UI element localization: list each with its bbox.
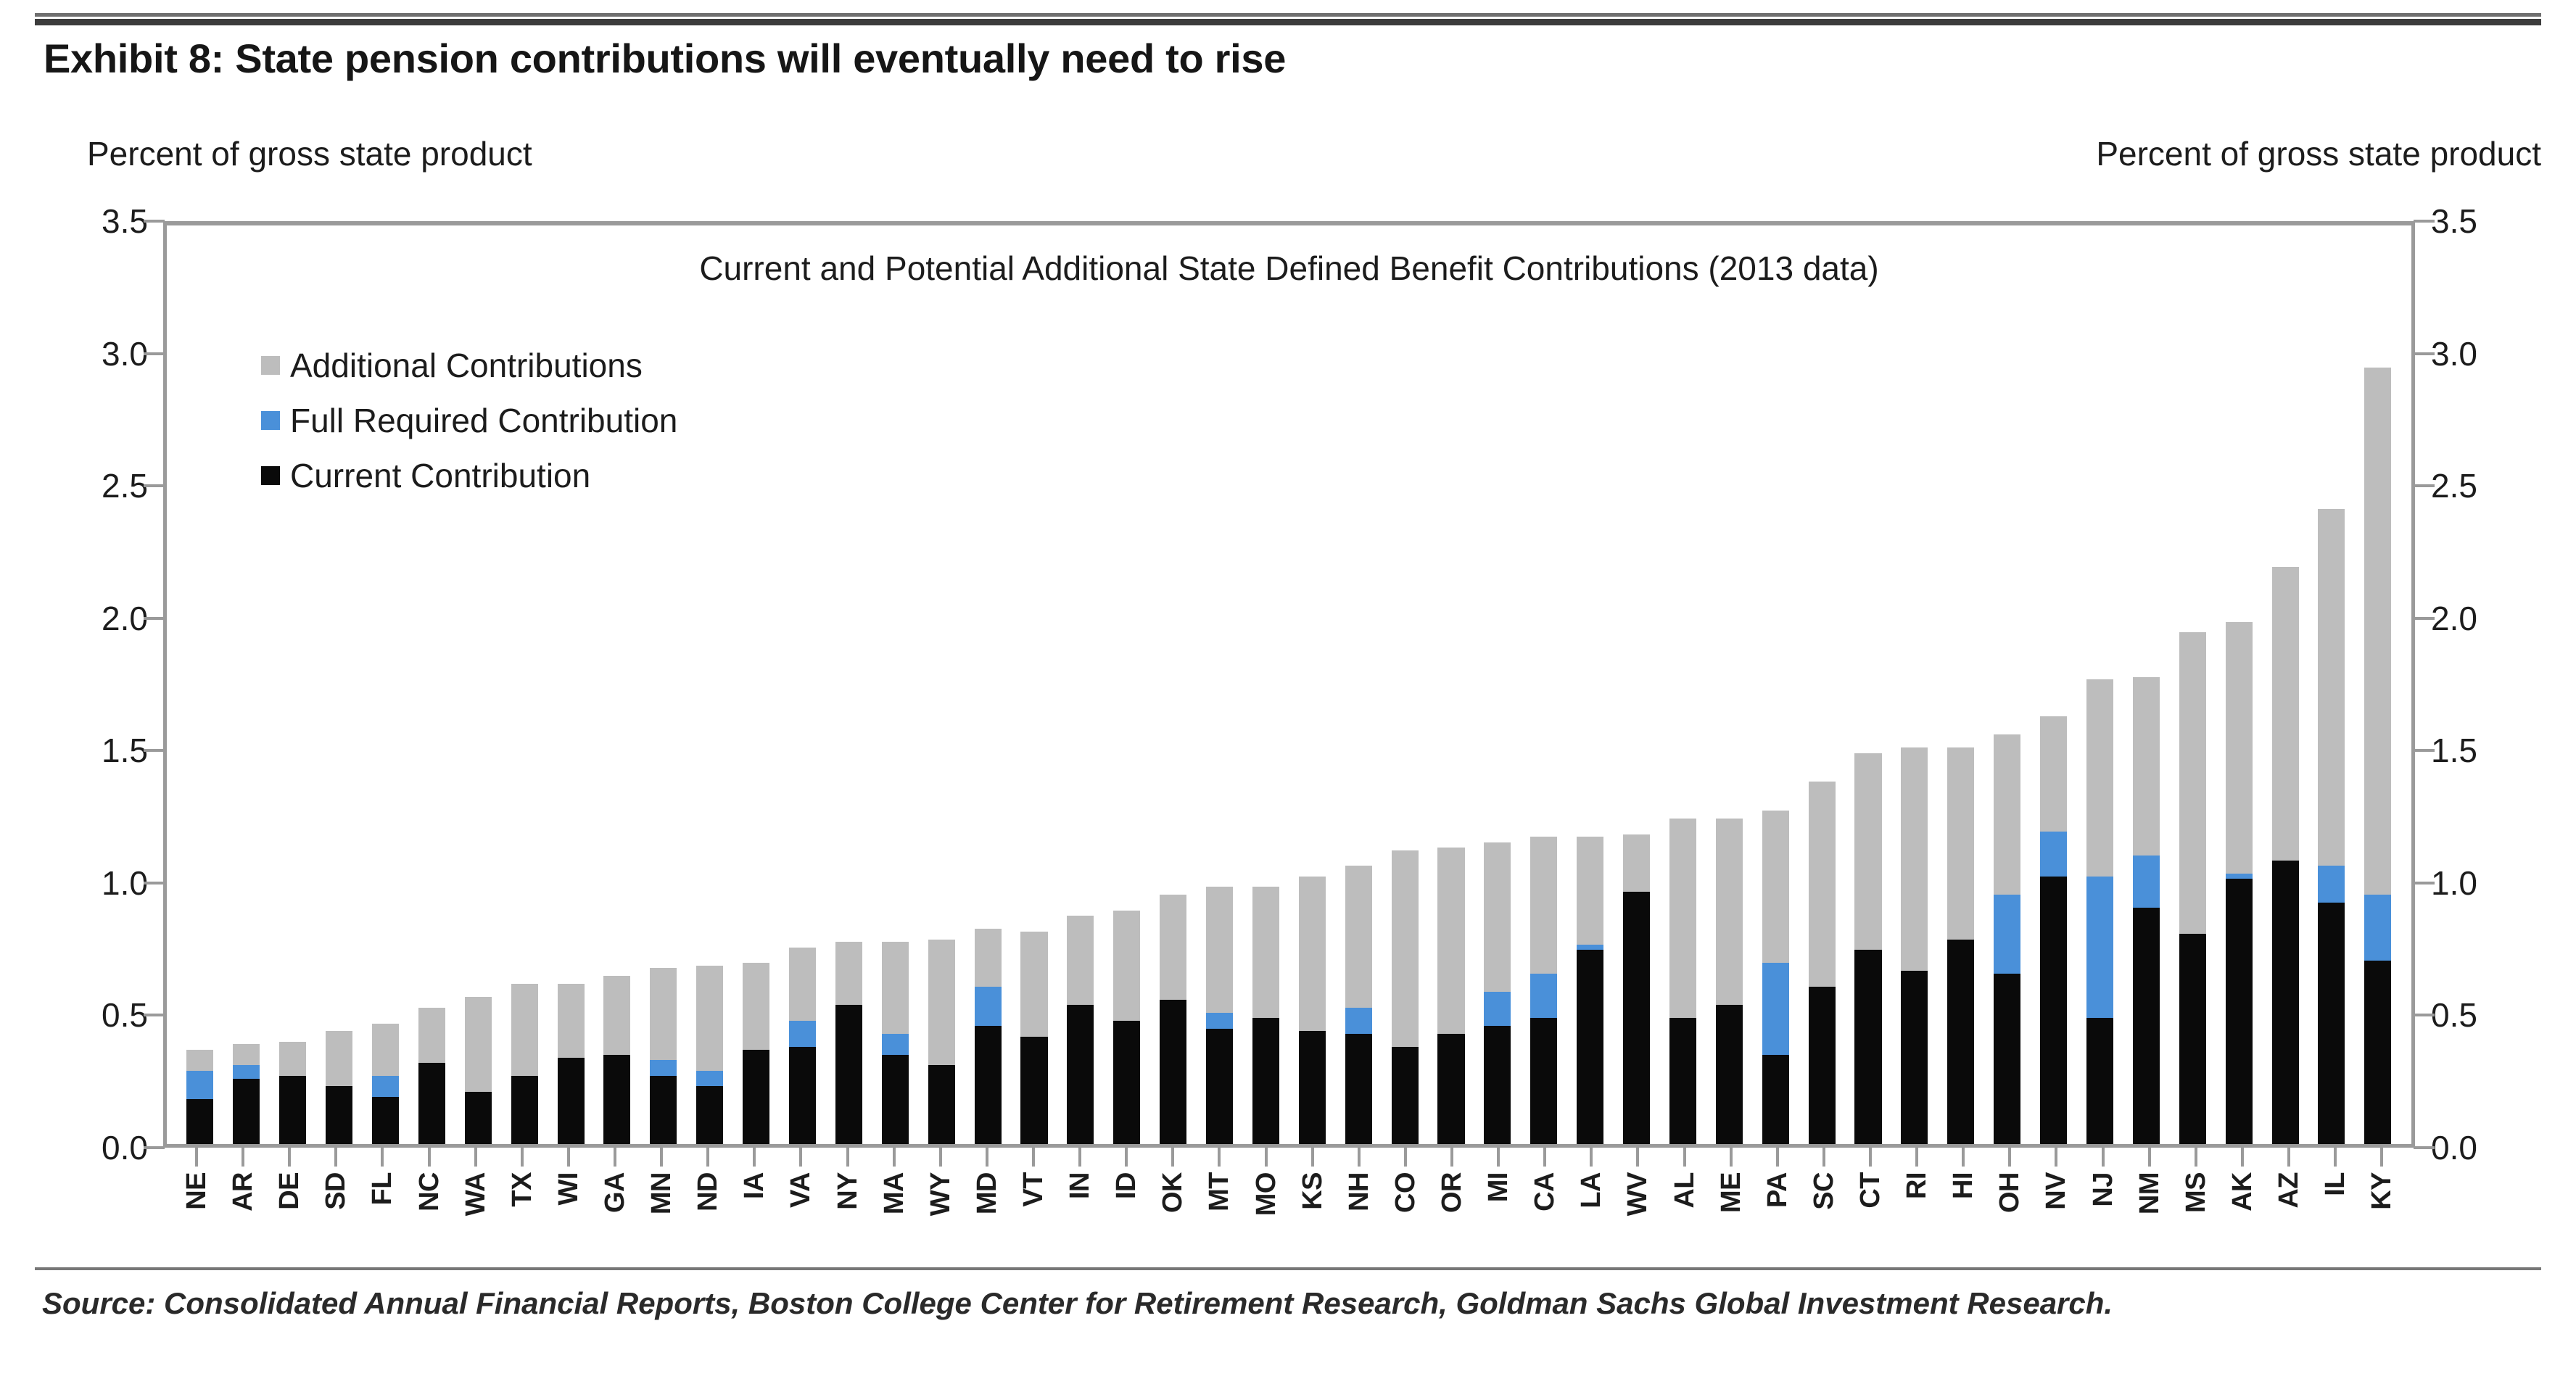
bar-segment-current: [1206, 1029, 1233, 1144]
x-tick-slot: [917, 1148, 964, 1169]
bar-segment-current: [603, 1055, 630, 1144]
y-tick-label-left: 2.5: [32, 466, 148, 505]
bar-segment-additional: [372, 1024, 399, 1076]
x-tick-slot: [2358, 1148, 2405, 1169]
x-tick-mark: [2287, 1148, 2290, 1167]
x-tick-slot: [1010, 1148, 1057, 1169]
bar-stack: [2040, 225, 2067, 1144]
bar-group-MN[interactable]: [640, 225, 687, 1144]
bar-group-KY[interactable]: [2355, 225, 2401, 1144]
x-label-slot: GA: [592, 1171, 638, 1251]
x-tick-mark: [614, 1148, 616, 1167]
bar-group-VA[interactable]: [780, 225, 826, 1144]
x-tick-slot: [1754, 1148, 1801, 1169]
x-tick-slot: [2266, 1148, 2312, 1169]
bar-stack: [789, 225, 816, 1144]
x-label-ME: ME: [1717, 1172, 1746, 1213]
bar-group-WI[interactable]: [548, 225, 594, 1144]
bar-segment-current: [1530, 1018, 1557, 1144]
x-tick-slot: [266, 1148, 313, 1169]
y-tick-label-right: 1.5: [2431, 731, 2547, 770]
x-tick-slot: [2312, 1148, 2358, 1169]
x-label-KS: KS: [1298, 1172, 1327, 1210]
x-tick-mark: [1497, 1148, 1500, 1167]
x-tick-slot: [2173, 1148, 2219, 1169]
bar-group-CT[interactable]: [1845, 225, 1891, 1144]
bar-segment-additional: [418, 1008, 445, 1063]
bar-group-NM[interactable]: [2123, 225, 2169, 1144]
bar-group-IA[interactable]: [733, 225, 780, 1144]
y-tick-label-right: 2.5: [2431, 466, 2547, 505]
bar-segment-additional: [2133, 677, 2160, 855]
x-label-slot: LA: [1568, 1171, 1614, 1251]
x-tick-mark: [706, 1148, 709, 1167]
bar-segment-required: [2318, 866, 2345, 903]
y-tick-mark-left: [144, 749, 165, 752]
x-tick-slot: [1103, 1148, 1149, 1169]
x-label-slot: AZ: [2266, 1171, 2312, 1251]
x-label-slot: CO: [1382, 1171, 1429, 1251]
x-tick-mark: [2334, 1148, 2337, 1167]
bar-group-IN[interactable]: [1057, 225, 1104, 1144]
bar-segment-additional: [279, 1042, 306, 1076]
x-tick-slot: [1336, 1148, 1382, 1169]
bar-segment-required: [1762, 963, 1789, 1055]
bar-group-TX[interactable]: [501, 225, 548, 1144]
x-label-slot: KY: [2358, 1171, 2405, 1251]
x-tick-mark: [1311, 1148, 1314, 1167]
bar-segment-required: [1577, 945, 1603, 950]
x-label-GA: GA: [600, 1172, 629, 1213]
bar-segment-additional: [835, 942, 862, 1005]
bar-group-OH[interactable]: [1984, 225, 2031, 1144]
bar-segment-required: [2226, 874, 2253, 879]
bar-group-VT[interactable]: [1011, 225, 1057, 1144]
bar-group-NE[interactable]: [177, 225, 223, 1144]
bar-segment-current: [1113, 1021, 1140, 1144]
bar-group-WA[interactable]: [455, 225, 501, 1144]
bar-group-NY[interactable]: [825, 225, 872, 1144]
bar-group-MS[interactable]: [2169, 225, 2216, 1144]
x-label-slot: NH: [1336, 1171, 1382, 1251]
bar-segment-additional: [1854, 753, 1881, 950]
x-tick-mark: [986, 1148, 988, 1167]
bar-segment-current: [1299, 1031, 1326, 1144]
bar-segment-additional: [1901, 747, 1928, 971]
x-tick-mark: [1543, 1148, 1546, 1167]
bar-segment-current: [2133, 908, 2160, 1144]
bar-group-MI[interactable]: [1474, 225, 1521, 1144]
bar-group-CA[interactable]: [1521, 225, 1567, 1144]
x-tick-mark: [1265, 1148, 1268, 1167]
x-tick-mark: [381, 1148, 384, 1167]
bar-segment-additional: [2040, 716, 2067, 832]
x-label-FL: FL: [368, 1172, 397, 1205]
bar-group-NJ[interactable]: [2077, 225, 2123, 1144]
bar-segment-additional: [1994, 734, 2020, 895]
x-label-SC: SC: [1809, 1172, 1838, 1210]
x-tick-mark: [1869, 1148, 1872, 1167]
bar-stack: [1437, 225, 1464, 1144]
x-label-WY: WY: [926, 1172, 955, 1216]
bar-segment-additional: [1947, 747, 1974, 939]
bar-segment-current: [743, 1050, 769, 1144]
bar-stack: [1252, 225, 1279, 1144]
bar-segment-required: [2133, 855, 2160, 908]
bar-stack: [326, 225, 352, 1144]
bar-segment-required: [1994, 895, 2020, 974]
bar-stack: [1762, 225, 1789, 1144]
x-label-slot: NE: [173, 1171, 220, 1251]
bar-segment-required: [233, 1065, 260, 1078]
bar-segment-additional: [1160, 895, 1186, 1000]
bar-segment-current: [1762, 1055, 1789, 1144]
bar-segment-required: [696, 1071, 723, 1087]
x-label-WI: WI: [554, 1172, 583, 1205]
x-tick-mark: [1730, 1148, 1733, 1167]
x-tick-mark: [1636, 1148, 1639, 1167]
x-tick-mark: [1358, 1148, 1361, 1167]
x-tick-slot: [499, 1148, 545, 1169]
bar-stack: [279, 225, 306, 1144]
x-label-AL: AL: [1670, 1172, 1699, 1209]
x-tick-mark: [799, 1148, 802, 1167]
y-tick-mark-left: [144, 617, 165, 620]
bar-segment-additional: [650, 968, 677, 1060]
bar-segment-additional: [465, 997, 492, 1091]
x-label-slot: AR: [220, 1171, 266, 1251]
x-label-slot: RI: [1894, 1171, 1940, 1251]
source-note: Source: Consolidated Annual Financial Re…: [42, 1282, 2218, 1326]
x-axis-category-labels: NEARDESDFLNCWATXWIGAMNNDIAVANYMAWYMDVTIN…: [163, 1171, 2415, 1251]
bar-segment-current: [882, 1055, 909, 1144]
top-thick-rule: [35, 19, 2541, 25]
y-tick-mark-left: [144, 1146, 165, 1149]
x-label-KY: KY: [2367, 1172, 2396, 1210]
x-label-VT: VT: [1019, 1172, 1048, 1207]
x-label-slot: ID: [1103, 1171, 1149, 1251]
bar-stack: [1530, 225, 1557, 1144]
bar-group-HI[interactable]: [1938, 225, 1984, 1144]
x-label-NM: NM: [2135, 1172, 2164, 1214]
bar-segment-additional: [1437, 848, 1464, 1034]
y-tick-mark-right: [2414, 617, 2435, 620]
bar-segment-current: [1854, 950, 1881, 1144]
x-tick-slot: [964, 1148, 1010, 1169]
bar-group-ME[interactable]: [1706, 225, 1752, 1144]
x-label-slot: VA: [777, 1171, 824, 1251]
x-tick-slot: [1614, 1148, 1661, 1169]
y-tick-label-right: 1.0: [2431, 863, 2547, 903]
bar-stack: [743, 225, 769, 1144]
bar-segment-additional: [1809, 782, 1836, 986]
x-tick-mark: [521, 1148, 524, 1167]
bar-segment-current: [326, 1086, 352, 1144]
bar-stack: [1067, 225, 1094, 1144]
x-label-NJ: NJ: [2089, 1172, 2118, 1207]
bar-group-NH[interactable]: [1335, 225, 1382, 1144]
bar-segment-additional: [1299, 877, 1326, 1032]
x-label-slot: WI: [545, 1171, 592, 1251]
x-tick-slot: [173, 1148, 220, 1169]
bar-stack: [975, 225, 1002, 1144]
x-tick-mark: [1590, 1148, 1593, 1167]
bar-segment-additional: [928, 940, 955, 1066]
x-label-AK: AK: [2228, 1172, 2257, 1211]
bar-segment-current: [465, 1092, 492, 1144]
x-label-slot: WA: [453, 1171, 499, 1251]
x-label-NV: NV: [2042, 1172, 2071, 1210]
bar-segment-additional: [186, 1050, 213, 1071]
x-label-CA: CA: [1530, 1172, 1559, 1211]
x-tick-mark: [1450, 1148, 1453, 1167]
x-label-WV: WV: [1623, 1172, 1652, 1216]
x-label-slot: IA: [731, 1171, 777, 1251]
bar-group-RI[interactable]: [1891, 225, 1938, 1144]
bar-segment-additional: [1252, 887, 1279, 1018]
x-label-slot: KS: [1289, 1171, 1336, 1251]
bar-segment-required: [2040, 832, 2067, 877]
bar-group-MD[interactable]: [965, 225, 1011, 1144]
bar-segment-required: [186, 1071, 213, 1100]
bar-segment-current: [372, 1097, 399, 1144]
bar-stack: [2318, 225, 2345, 1144]
bar-group-PA[interactable]: [1752, 225, 1799, 1144]
x-label-slot: OR: [1429, 1171, 1475, 1251]
bar-segment-additional: [1113, 911, 1140, 1021]
bar-segment-current: [1484, 1026, 1511, 1144]
x-label-MD: MD: [973, 1172, 1002, 1214]
bar-stack: [233, 225, 260, 1144]
bar-segment-additional: [2226, 622, 2253, 874]
bar-group-WV[interactable]: [1614, 225, 1660, 1144]
bar-segment-current: [1067, 1005, 1094, 1144]
bar-group-ID[interactable]: [1104, 225, 1150, 1144]
bar-stack: [1901, 225, 1928, 1144]
bar-segment-current: [279, 1076, 306, 1144]
x-tick-slot: [1661, 1148, 1708, 1169]
bar-segment-current: [928, 1065, 955, 1144]
x-label-WA: WA: [461, 1172, 490, 1216]
y-tick-mark-right: [2414, 220, 2435, 223]
bar-stack: [2226, 225, 2253, 1144]
bar-segment-current: [2226, 879, 2253, 1144]
y-tick-mark-right: [2414, 882, 2435, 884]
bar-stack: [603, 225, 630, 1144]
bar-stack: [1947, 225, 1974, 1144]
bar-group-ND[interactable]: [687, 225, 733, 1144]
bar-segment-additional: [1484, 842, 1511, 992]
bar-stack: [1716, 225, 1743, 1144]
x-label-MI: MI: [1484, 1172, 1513, 1202]
y-tick-mark-left: [144, 1014, 165, 1016]
bar-stack: [1623, 225, 1650, 1144]
bar-segment-additional: [1623, 834, 1650, 892]
bar-segment-additional: [1392, 850, 1419, 1048]
bar-group-GA[interactable]: [594, 225, 640, 1144]
x-label-slot: OH: [1986, 1171, 2033, 1251]
bar-segment-additional: [326, 1031, 352, 1086]
x-label-slot: NV: [2033, 1171, 2079, 1251]
x-label-slot: IL: [2312, 1171, 2358, 1251]
bar-group-IL[interactable]: [2308, 225, 2355, 1144]
x-label-NY: NY: [833, 1172, 862, 1210]
bar-segment-required: [975, 987, 1002, 1026]
x-tick-mark: [1171, 1148, 1174, 1167]
bar-segment-current: [2179, 934, 2206, 1144]
x-label-slot: NY: [825, 1171, 871, 1251]
exhibit-headline: Exhibit 8: State pension contributions w…: [44, 35, 2437, 82]
bar-stack: [1299, 225, 1326, 1144]
bar-group-NC[interactable]: [408, 225, 455, 1144]
x-label-TX: TX: [508, 1172, 537, 1207]
bar-group-DE[interactable]: [270, 225, 316, 1144]
x-label-slot: NJ: [2079, 1171, 2126, 1251]
bar-segment-current: [1669, 1018, 1696, 1144]
x-tick-mark: [1915, 1148, 1918, 1167]
bar-group-MA[interactable]: [872, 225, 918, 1144]
bar-group-OR[interactable]: [1428, 225, 1474, 1144]
x-label-slot: ND: [685, 1171, 731, 1251]
bar-group-FL[interactable]: [363, 225, 409, 1144]
bar-group-MT[interactable]: [1197, 225, 1243, 1144]
x-label-LA: LA: [1577, 1172, 1606, 1209]
x-tick-slot: [638, 1148, 685, 1169]
x-label-MO: MO: [1252, 1172, 1281, 1216]
x-tick-slot: [777, 1148, 824, 1169]
x-label-slot: SC: [1801, 1171, 1847, 1251]
bar-segment-current: [1020, 1037, 1047, 1144]
bar-group-SC[interactable]: [1799, 225, 1845, 1144]
x-axis-tick-marks: [163, 1148, 2415, 1169]
bottom-rule: [35, 1267, 2541, 1270]
bar-group-AL[interactable]: [1660, 225, 1706, 1144]
x-label-slot: AK: [2219, 1171, 2266, 1251]
y-tick-mark-left: [144, 352, 165, 355]
x-tick-slot: [1708, 1148, 1754, 1169]
bar-group-AR[interactable]: [223, 225, 270, 1144]
y-tick-label-right: 2.0: [2431, 599, 2547, 638]
bar-stack: [2133, 225, 2160, 1144]
bar-segment-additional: [2272, 567, 2299, 861]
bar-stack: [1669, 225, 1696, 1144]
bar-group-AZ[interactable]: [2262, 225, 2308, 1144]
x-label-OR: OR: [1437, 1172, 1466, 1213]
x-label-RI: RI: [1902, 1172, 1931, 1199]
x-tick-mark: [893, 1148, 896, 1167]
x-label-NE: NE: [182, 1172, 211, 1210]
x-tick-slot: [359, 1148, 405, 1169]
x-label-slot: WY: [917, 1171, 964, 1251]
x-label-slot: DE: [266, 1171, 313, 1251]
x-tick-mark: [1032, 1148, 1035, 1167]
bar-segment-additional: [603, 976, 630, 1055]
bar-group-OK[interactable]: [1150, 225, 1197, 1144]
x-tick-mark: [1404, 1148, 1407, 1167]
plot-area: Current and Potential Additional State D…: [163, 221, 2415, 1148]
bar-segment-required: [1345, 1008, 1372, 1034]
x-label-OK: OK: [1158, 1172, 1187, 1213]
bar-stack: [650, 225, 677, 1144]
bar-stack: [186, 225, 213, 1144]
bar-group-CO[interactable]: [1382, 225, 1428, 1144]
x-label-slot: MD: [964, 1171, 1010, 1251]
x-tick-mark: [2008, 1148, 2011, 1167]
bar-segment-additional: [511, 984, 538, 1076]
x-tick-mark: [1822, 1148, 1825, 1167]
x-label-slot: IN: [1057, 1171, 1103, 1251]
x-tick-slot: [453, 1148, 499, 1169]
bar-group-SD[interactable]: [316, 225, 363, 1144]
bar-group-KS[interactable]: [1289, 225, 1335, 1144]
x-tick-slot: [1243, 1148, 1289, 1169]
bar-group-LA[interactable]: [1567, 225, 1614, 1144]
x-tick-slot: [1475, 1148, 1522, 1169]
x-tick-slot: [592, 1148, 638, 1169]
x-label-NC: NC: [415, 1172, 444, 1211]
x-tick-slot: [1894, 1148, 1940, 1169]
y-tick-label-right: 3.5: [2431, 202, 2547, 241]
bar-stack: [882, 225, 909, 1144]
x-label-AR: AR: [228, 1172, 257, 1211]
bar-segment-current: [1392, 1047, 1419, 1144]
x-tick-slot: [2033, 1148, 2079, 1169]
x-label-slot: HI: [1940, 1171, 1986, 1251]
y-tick-label-right: 0.0: [2431, 1128, 2547, 1167]
exhibit-figure: Exhibit 8: State pension contributions w…: [0, 0, 2576, 1392]
y-tick-mark-left: [144, 484, 165, 487]
bar-segment-additional: [743, 963, 769, 1049]
bar-segment-current: [1716, 1005, 1743, 1144]
y-tick-label-left: 0.0: [32, 1128, 148, 1167]
x-tick-mark: [846, 1148, 849, 1167]
x-tick-slot: [1522, 1148, 1568, 1169]
bar-stack: [1020, 225, 1047, 1144]
x-label-slot: ME: [1708, 1171, 1754, 1251]
x-label-slot: FL: [359, 1171, 405, 1251]
bar-group-WY[interactable]: [918, 225, 965, 1144]
x-label-slot: TX: [499, 1171, 545, 1251]
x-tick-slot: [1289, 1148, 1336, 1169]
x-tick-mark: [1218, 1148, 1221, 1167]
x-tick-mark: [1078, 1148, 1081, 1167]
bar-segment-additional: [882, 942, 909, 1034]
x-tick-slot: [2126, 1148, 2173, 1169]
bar-stack: [2179, 225, 2206, 1144]
x-label-slot: MO: [1243, 1171, 1289, 1251]
right-axis-unit-caption: Percent of gross state product: [2096, 134, 2541, 173]
bar-group-NV[interactable]: [2031, 225, 2077, 1144]
x-tick-mark: [753, 1148, 756, 1167]
x-tick-slot: [1149, 1148, 1196, 1169]
bar-segment-current: [1994, 974, 2020, 1144]
y-tick-mark-right: [2414, 1014, 2435, 1016]
y-tick-label-right: 3.0: [2431, 334, 2547, 373]
bar-segment-current: [975, 1026, 1002, 1144]
bar-segment-required: [2086, 877, 2113, 1018]
y-tick-label-left: 1.5: [32, 731, 148, 770]
bar-segment-required: [1530, 974, 1557, 1019]
bar-segment-required: [650, 1060, 677, 1076]
bar-group-MO[interactable]: [1242, 225, 1289, 1144]
bar-stack: [1160, 225, 1186, 1144]
x-label-MT: MT: [1205, 1172, 1234, 1211]
y-tick-mark-left: [144, 882, 165, 884]
x-label-slot: NM: [2126, 1171, 2173, 1251]
x-tick-slot: [313, 1148, 359, 1169]
bar-group-AK[interactable]: [2216, 225, 2262, 1144]
x-tick-mark: [939, 1148, 942, 1167]
